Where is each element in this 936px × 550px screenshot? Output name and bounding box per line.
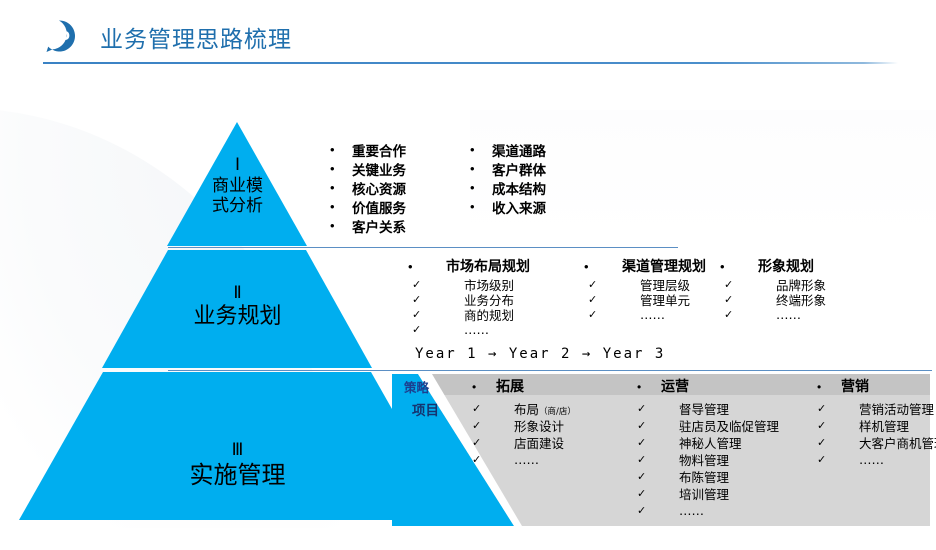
section-2-column-3: • 形象规划 ✓ 品牌形象 ✓ 终端形象 ✓ …… <box>720 256 826 322</box>
list-item: ✓ …… <box>472 451 576 468</box>
list-item-label: …… <box>464 322 489 337</box>
bullet-icon: • <box>330 140 352 159</box>
list-item: ✓ 物料管理 <box>637 451 779 468</box>
section-2-column-3-heading-row: • 形象规划 <box>720 256 826 277</box>
check-icon: ✓ <box>637 453 679 466</box>
check-icon: ✓ <box>817 419 859 432</box>
check-icon: ✓ <box>637 504 679 517</box>
pyramid-level-1-label: Ⅰ 商业模 式分析 <box>175 155 300 216</box>
section-2-column-3-heading: 形象规划 <box>758 256 814 276</box>
pyramid-level-3-numeral: Ⅲ <box>150 440 325 461</box>
list-item: ✓ …… <box>817 451 936 468</box>
check-icon: ✓ <box>637 436 679 449</box>
pyramid-level-2-label: Ⅱ 业务规划 <box>150 283 325 330</box>
check-icon: ✓ <box>412 278 464 291</box>
bullet-icon: • <box>470 197 492 216</box>
check-icon: ✓ <box>637 470 679 483</box>
check-icon: ✓ <box>637 419 679 432</box>
bullet-icon: • <box>330 159 352 178</box>
section-2-column-1-heading-row: • 市场布局规划 <box>408 256 530 277</box>
list-item: • 成本结构 <box>470 178 546 197</box>
list-item-label: 大客户商机管理 <box>859 433 936 452</box>
section-2-column-2-heading-row: • 渠道管理规划 <box>584 256 706 277</box>
list-item: ✓ 营销活动管理 <box>817 400 936 417</box>
bullet-icon: • <box>470 159 492 178</box>
section-3-column-3-heading-row: • 营销 <box>817 376 869 396</box>
list-item-label: 客户群体 <box>492 159 546 179</box>
check-icon: ✓ <box>588 278 640 291</box>
pyramid-level-1-line2: 式分析 <box>212 196 263 216</box>
check-icon: ✓ <box>412 323 464 336</box>
list-item: ✓ 店面建设 <box>472 434 576 451</box>
check-icon: ✓ <box>472 436 514 449</box>
section-3-row-label-strategy: 策略 <box>404 377 429 396</box>
header-divider <box>43 62 898 64</box>
list-item-label: 培训管理 <box>679 484 729 503</box>
section-3-row-label-project: 项目 <box>412 399 439 419</box>
bullet-icon: • <box>408 259 446 274</box>
bullet-icon: • <box>470 178 492 197</box>
list-item: • 核心资源 <box>330 178 406 197</box>
section-1-column-2: • 渠道通路 • 客户群体 • 成本结构 • 收入来源 <box>470 140 546 216</box>
slide-canvas: MD 业务管理思路梳理 Ⅰ 商业模 式分析 Ⅱ 业务规划 Ⅲ 实施管理 • <box>0 0 936 550</box>
bullet-icon: • <box>720 259 758 274</box>
pyramid-level-3-line1: 实施管理 <box>190 461 286 489</box>
bullet-icon: • <box>637 380 661 394</box>
bullet-icon: • <box>584 259 622 274</box>
list-item: • 价值服务 <box>330 197 406 216</box>
check-icon: ✓ <box>412 293 464 306</box>
section-2-column-1-heading: 市场布局规划 <box>446 256 530 276</box>
list-item: ✓ …… <box>408 322 530 337</box>
pyramid-level-2-line1: 业务规划 <box>193 304 281 329</box>
bullet-icon: • <box>817 380 841 394</box>
section-3-column-1-heading-row: • 拓展 <box>472 376 524 396</box>
list-item: ✓ 样机管理 <box>817 417 936 434</box>
check-icon: ✓ <box>588 293 640 306</box>
md-speech-bubble-logo: MD <box>42 19 76 53</box>
section-3-column-3-heading: 营销 <box>841 376 869 396</box>
section-3-column-1-heading: 拓展 <box>496 376 524 396</box>
list-item: ✓ 布陈管理 <box>637 468 779 485</box>
section-3-column-2-items: ✓ 督导管理 ✓ 驻店员及临促管理 ✓ 神秘人管理 ✓ 物料管理 ✓ 布陈管理 … <box>637 400 779 519</box>
list-item: ✓ 督导管理 <box>637 400 779 417</box>
list-item-label: 渠道通路 <box>492 140 546 160</box>
check-icon: ✓ <box>817 453 859 466</box>
bullet-icon: • <box>470 140 492 159</box>
list-item: ✓ …… <box>720 307 826 322</box>
list-item-label: 关键业务 <box>352 159 406 179</box>
list-item-label: …… <box>640 307 665 322</box>
check-icon: ✓ <box>588 308 640 321</box>
page-title: 业务管理思路梳理 <box>100 20 292 54</box>
check-icon: ✓ <box>724 308 776 321</box>
section-3-column-2-heading-row: • 运营 <box>637 376 689 396</box>
list-item: • 客户关系 <box>330 216 406 235</box>
list-item: ✓ 培训管理 <box>637 485 779 502</box>
bullet-icon: • <box>472 380 496 394</box>
section-3-column-3-items: ✓ 营销活动管理 ✓ 样机管理 ✓ 大客户商机管理 ✓ …… <box>817 400 936 468</box>
check-icon: ✓ <box>472 453 514 466</box>
check-icon: ✓ <box>724 278 776 291</box>
list-item-label: …… <box>514 452 539 467</box>
pyramid-level-1-line1: 商业模 <box>212 176 263 196</box>
check-icon: ✓ <box>412 308 464 321</box>
bullet-icon: • <box>330 216 352 235</box>
list-item: ✓ 终端形象 <box>720 292 826 307</box>
list-item: ✓ 驻店员及临促管理 <box>637 417 779 434</box>
svg-text:MD: MD <box>48 29 70 43</box>
list-item: • 客户群体 <box>470 159 546 178</box>
list-item: ✓ 商的规划 <box>408 307 530 322</box>
list-item-label: 价值服务 <box>352 197 406 217</box>
timeline-label: Year 1 → Year 2 → Year 3 <box>415 346 665 362</box>
list-item: ✓ 神秘人管理 <box>637 434 779 451</box>
list-item-label: 核心资源 <box>352 178 406 198</box>
list-item: • 重要合作 <box>330 140 406 159</box>
list-item: ✓ 形象设计 <box>472 417 576 434</box>
bullet-icon: • <box>330 178 352 197</box>
list-item: ✓ …… <box>584 307 706 322</box>
pyramid-level-3-label: Ⅲ 实施管理 <box>150 440 325 490</box>
list-item-label: …… <box>859 452 884 467</box>
list-item: • 关键业务 <box>330 159 406 178</box>
check-icon: ✓ <box>472 402 514 415</box>
list-item-label: 收入来源 <box>492 197 546 217</box>
section-3-column-1-items: ✓ 布局（商/店） ✓ 形象设计 ✓ 店面建设 ✓ …… <box>472 400 576 468</box>
pyramid-level-1-numeral: Ⅰ <box>175 155 300 176</box>
list-item: ✓ 布局（商/店） <box>472 400 576 417</box>
section-divider-2 <box>168 370 932 371</box>
list-item-label: 店面建设 <box>514 433 564 452</box>
section-2-column-2: • 渠道管理规划 ✓ 管理层级 ✓ 管理单元 ✓ …… <box>584 256 706 322</box>
check-icon: ✓ <box>817 402 859 415</box>
list-item: • 渠道通路 <box>470 140 546 159</box>
section-divider-1 <box>168 247 678 248</box>
list-item: ✓ 大客户商机管理 <box>817 434 936 451</box>
list-item: ✓ 管理单元 <box>584 292 706 307</box>
check-icon: ✓ <box>472 419 514 432</box>
check-icon: ✓ <box>724 293 776 306</box>
check-icon: ✓ <box>637 487 679 500</box>
list-item: ✓ …… <box>637 502 779 519</box>
check-icon: ✓ <box>817 436 859 449</box>
list-item-label: 重要合作 <box>352 140 406 160</box>
check-icon: ✓ <box>637 402 679 415</box>
pyramid-level-2-numeral: Ⅱ <box>150 283 325 304</box>
section-2-column-1: • 市场布局规划 ✓ 市场级别 ✓ 业务分布 ✓ 商的规划 ✓ …… <box>408 256 530 337</box>
list-item-label: 客户关系 <box>352 216 406 236</box>
list-item-label: …… <box>776 307 801 322</box>
bullet-icon: • <box>330 197 352 216</box>
section-2-column-2-heading: 渠道管理规划 <box>622 256 706 276</box>
section-3-column-2-heading: 运营 <box>661 376 689 396</box>
list-item-label: …… <box>679 503 704 518</box>
section-3-panel: 策略 项目 • 拓展 • 运营 • 营销 ✓ 布局（商/店） <box>392 374 930 526</box>
list-item-label: 成本结构 <box>492 178 546 198</box>
list-item: • 收入来源 <box>470 197 546 216</box>
section-1-column-1: • 重要合作 • 关键业务 • 核心资源 • 价值服务 • 客户关系 <box>330 140 406 235</box>
